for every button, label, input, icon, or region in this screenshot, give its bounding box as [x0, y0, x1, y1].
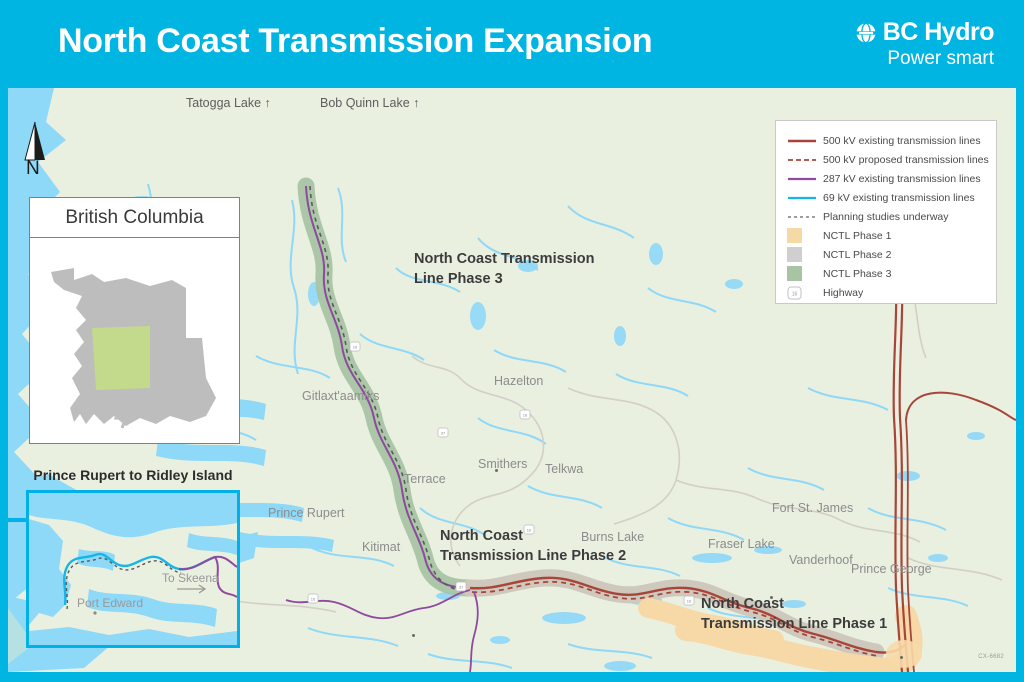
svg-text:16: 16 — [311, 597, 316, 602]
legend-label-highway: Highway — [823, 287, 863, 299]
legend-label-nctl-phase1: NCTL Phase 1 — [823, 230, 891, 242]
legend-row-nctl-phase1: NCTL Phase 1 — [776, 226, 996, 245]
label-telkwa: Telkwa — [545, 462, 583, 476]
legend-row-highway: 16 Highway — [776, 283, 996, 302]
label-fort-st-james: Fort St. James — [772, 501, 853, 515]
legend-symbol-highway-shield: 16 — [787, 286, 823, 300]
legend-symbol-dotted-line — [787, 214, 823, 220]
prince-rupert-inset: Prince Rupert to Ridley Island — [26, 467, 240, 650]
highway-shield-icon: 16 — [787, 286, 803, 300]
legend-label-nctl-phase3: NCTL Phase 3 — [823, 268, 891, 280]
british-columbia-inset: British Columbia — [29, 197, 240, 444]
phase2-label-line2: Transmission Line Phase 2 — [440, 546, 626, 566]
svg-text:16: 16 — [687, 599, 692, 604]
label-bob-quinn-lake: Bob Quinn Lake ↑ — [320, 96, 419, 110]
label-vanderhoof: Vanderhoof — [789, 553, 853, 567]
prince-rupert-inset-title: Prince Rupert to Ridley Island — [26, 467, 240, 490]
svg-text:16: 16 — [353, 345, 358, 350]
city-dot — [412, 634, 415, 637]
prince-george-node — [886, 640, 922, 668]
legend-label-500kv-existing: 500 kV existing transmission lines — [823, 135, 981, 147]
prince-rupert-inset-box[interactable]: Port Edward To Skeena — [26, 490, 240, 648]
label-burns-lake: Burns Lake — [581, 530, 644, 544]
bc-inset-title: British Columbia — [30, 198, 239, 238]
logo-tagline: Power smart — [824, 47, 994, 71]
map-poster: North Coast Transmission Expansion BC Hy… — [0, 0, 1024, 682]
legend-symbol-swatch-phase1 — [787, 228, 823, 243]
label-smithers: Smithers — [478, 457, 527, 471]
bc-highlight-region — [92, 326, 150, 390]
label-prince-george: Prince George — [851, 562, 932, 576]
bc-hydro-logo: BC Hydro Power smart — [824, 20, 994, 76]
legend-label-nctl-phase2: NCTL Phase 2 — [823, 249, 891, 261]
legend-row-500kv-existing: 500 kV existing transmission lines — [776, 131, 996, 150]
map-legend: 500 kV existing transmission lines 500 k… — [775, 120, 997, 304]
svg-text:37: 37 — [459, 585, 464, 590]
legend-symbol-swatch-phase3 — [787, 266, 823, 281]
label-gitlaxtaamiks: Gitlaxt'aamiks — [302, 389, 379, 403]
city-dot — [900, 656, 903, 659]
legend-label-500kv-proposed: 500 kV proposed transmission lines — [823, 154, 989, 166]
inset-label-port-edward: Port Edward — [77, 596, 143, 610]
bc-inset-body — [30, 238, 239, 443]
label-kitimat: Kitimat — [362, 540, 400, 554]
logo-wordmark: BC Hydro — [883, 20, 994, 45]
label-terrace: Terrace — [404, 472, 446, 486]
north-arrow-label: N — [26, 158, 40, 180]
svg-text:16: 16 — [792, 291, 798, 297]
header-bar: North Coast Transmission Expansion BC Hy… — [0, 0, 1024, 88]
svg-text:37: 37 — [441, 431, 446, 436]
map-reference-code: CX-6682 — [978, 654, 1004, 660]
legend-row-nctl-phase2: NCTL Phase 2 — [776, 245, 996, 264]
page-title: North Coast Transmission Expansion — [58, 22, 652, 61]
legend-row-planning-studies: Planning studies underway — [776, 207, 996, 226]
bc-province-map — [30, 238, 238, 441]
phase3-label-line1: North Coast Transmission — [414, 249, 594, 269]
legend-symbol-dashed-line — [787, 157, 823, 163]
legend-row-287kv-existing: 287 kV existing transmission lines — [776, 169, 996, 188]
phase3-label-line2: Line Phase 3 — [414, 269, 594, 289]
port-edward-dot — [93, 611, 96, 614]
phase3-label: North Coast Transmission Line Phase 3 — [414, 249, 594, 289]
legend-label-287kv-existing: 287 kV existing transmission lines — [823, 173, 981, 185]
bc-hydro-globe-icon — [855, 22, 877, 44]
label-tatogga-lake: Tatogga Lake ↑ — [186, 96, 271, 110]
north-arrow: N — [22, 120, 52, 180]
label-hazelton: Hazelton — [494, 374, 543, 388]
legend-symbol-solid-line — [787, 138, 823, 144]
svg-text:16: 16 — [523, 413, 528, 418]
legend-row-500kv-proposed: 500 kV proposed transmission lines — [776, 150, 996, 169]
phase1-label-line2: Transmission Line Phase 1 — [701, 614, 887, 634]
legend-label-69kv-existing: 69 kV existing transmission lines — [823, 192, 975, 204]
legend-row-69kv-existing: 69 kV existing transmission lines — [776, 188, 996, 207]
inset-label-to-skeena: To Skeena — [162, 571, 219, 585]
phase1-label: North Coast Transmission Line Phase 1 — [701, 594, 887, 634]
legend-row-nctl-phase3: NCTL Phase 3 — [776, 264, 996, 283]
label-prince-rupert: Prince Rupert — [268, 506, 344, 520]
legend-label-planning-studies: Planning studies underway — [823, 211, 949, 223]
label-fraser-lake: Fraser Lake — [708, 537, 775, 551]
legend-symbol-solid-line — [787, 195, 823, 201]
legend-symbol-swatch-phase2 — [787, 247, 823, 262]
prince-rupert-detail-map — [29, 493, 237, 645]
phase1-label-line1: North Coast — [701, 594, 887, 614]
legend-symbol-solid-line — [787, 176, 823, 182]
